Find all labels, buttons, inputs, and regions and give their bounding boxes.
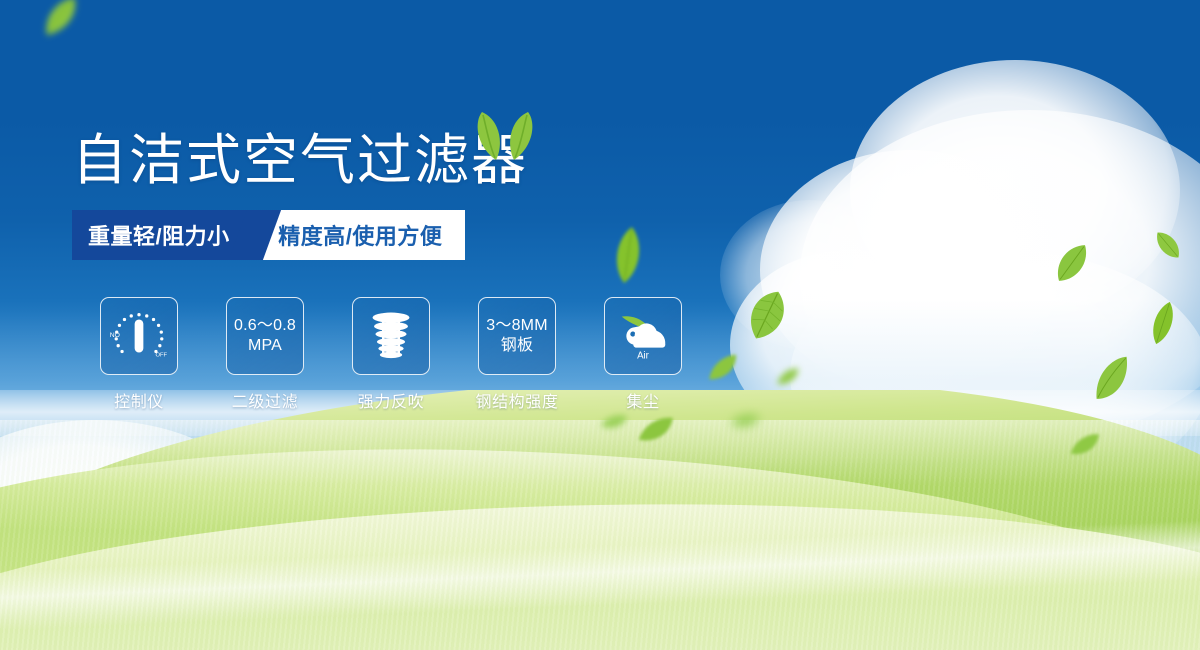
svg-text:OFF: OFF (155, 352, 167, 358)
leaf-icon (1147, 224, 1189, 267)
cloud-shape (560, 480, 840, 620)
leaf-icon (34, 0, 89, 41)
cloud-shape (420, 500, 680, 620)
cloud-shape (850, 60, 1180, 320)
hero-content: 自洁式空气过滤器 重量轻/阻力小 精度高/使用方便 (72, 132, 706, 412)
cloud-shape (790, 250, 1200, 500)
pressure-range: 0.6～0.8 (234, 317, 296, 334)
cloud-shape (330, 455, 650, 615)
leaf-icon (702, 350, 744, 386)
cloud-shape (800, 110, 1200, 440)
page-title: 自洁式空气过滤器 (72, 132, 706, 190)
pressure-text-icon: 0.6～0.8 MPA (234, 316, 296, 355)
subtitle-right: 精度高/使用方便 (256, 210, 465, 260)
feature-item-controller[interactable]: NO OFF 控制仪 (76, 297, 202, 412)
feature-label: 集尘 (580, 388, 706, 412)
cloud-shape (720, 200, 900, 350)
feature-item-two-stage-filter[interactable]: 0.6～0.8 MPA 二级过滤 (202, 297, 328, 412)
cloud-shape (120, 470, 420, 620)
cloud-air-icon: Air (612, 305, 674, 367)
subtitle-left: 重量轻/阻力小 (72, 210, 256, 260)
pressure-unit: MPA (234, 336, 296, 356)
subtitle-bar: 重量轻/阻力小 精度高/使用方便 (72, 210, 465, 260)
gauge-icon: NO OFF (108, 305, 170, 367)
feature-card: 0.6～0.8 MPA (226, 297, 304, 375)
leaf-icon (1066, 429, 1104, 461)
cloud-shape (880, 455, 1200, 625)
feature-label: 钢结构强度 (454, 388, 580, 412)
leaf-icon (1082, 352, 1141, 407)
leaf-icon (1045, 234, 1100, 291)
grass-path (0, 515, 1200, 633)
grass-texture (0, 420, 1200, 650)
grass-foreground (0, 492, 1200, 650)
feature-label: 强力反吹 (328, 388, 454, 412)
feature-card: NO OFF (100, 297, 178, 375)
feature-list: NO OFF 控制仪 0.6～0.8 MPA 二级过滤 (76, 297, 706, 412)
feature-card (352, 297, 430, 375)
cloud-shape (0, 420, 260, 610)
product-hero-banner: 自洁式空气过滤器 重量轻/阻力小 精度高/使用方便 (0, 0, 1200, 650)
cloud-shape (730, 250, 970, 440)
leaf-icon (1144, 297, 1183, 349)
cloud-shape (760, 150, 1060, 390)
feature-label: 控制仪 (76, 388, 202, 412)
cloud-shape (40, 495, 260, 605)
steel-material: 钢板 (486, 336, 547, 356)
steel-thickness: 3～8MM (486, 317, 547, 334)
svg-text:NO: NO (110, 332, 120, 339)
grass-field (0, 390, 1200, 650)
feature-item-steel-strength[interactable]: 3～8MM 钢板 钢结构强度 (454, 297, 580, 412)
feature-item-strong-blowback[interactable]: 强力反吹 (328, 297, 454, 412)
leaf-icon (728, 407, 762, 435)
leaf-icon (773, 365, 802, 388)
coil-spring-icon (360, 305, 422, 367)
feature-label: 二级过滤 (202, 388, 328, 412)
grass-hill-mid (0, 432, 1200, 650)
feature-card: Air (604, 297, 682, 375)
leaf-icon (599, 411, 629, 434)
steel-text-icon: 3～8MM 钢板 (486, 316, 547, 355)
cloud-shape (700, 440, 1040, 620)
grass-hill-far (0, 390, 1200, 636)
leaf-icon (635, 415, 678, 444)
cloud-shadow (680, 480, 1200, 600)
cloud-air-label: Air (637, 350, 650, 361)
leaf-icon (735, 280, 799, 350)
feature-card: 3～8MM 钢板 (478, 297, 556, 375)
feature-item-dust-collection[interactable]: Air 集尘 (580, 297, 706, 412)
